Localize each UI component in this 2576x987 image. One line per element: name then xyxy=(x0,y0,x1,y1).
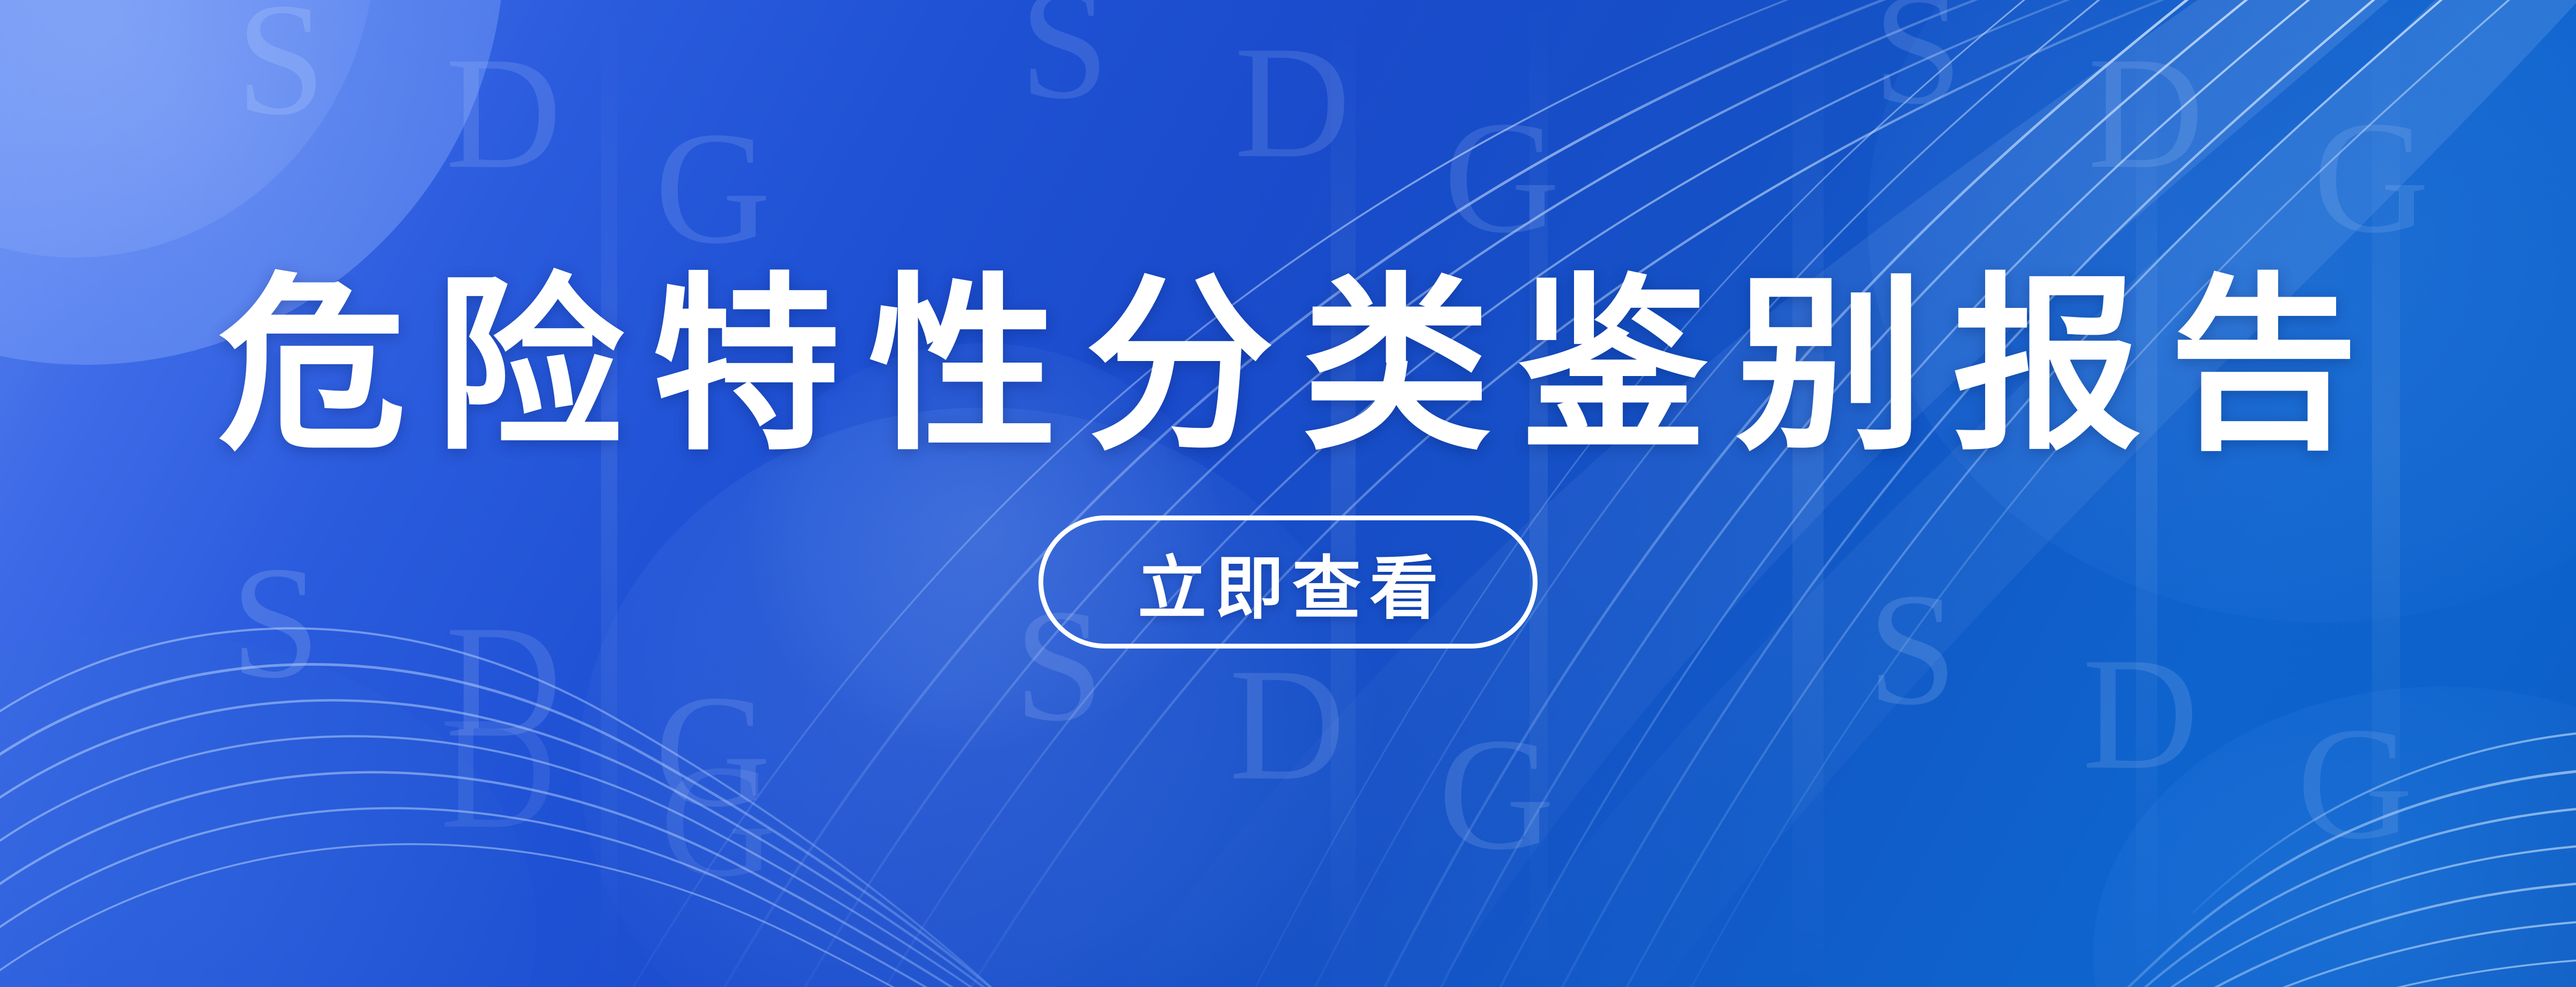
view-now-button[interactable]: 立即查看 xyxy=(1038,515,1538,649)
view-now-button-label: 立即查看 xyxy=(1129,533,1447,632)
promo-banner: SDGSDGSDGSDGSDGSDGDG 危险特性分类鉴别报告 立即查看 xyxy=(0,0,2576,987)
banner-title: 危险特性分类鉴别报告 xyxy=(190,266,2386,466)
banner-content: 危险特性分类鉴别报告 立即查看 xyxy=(0,0,2576,987)
